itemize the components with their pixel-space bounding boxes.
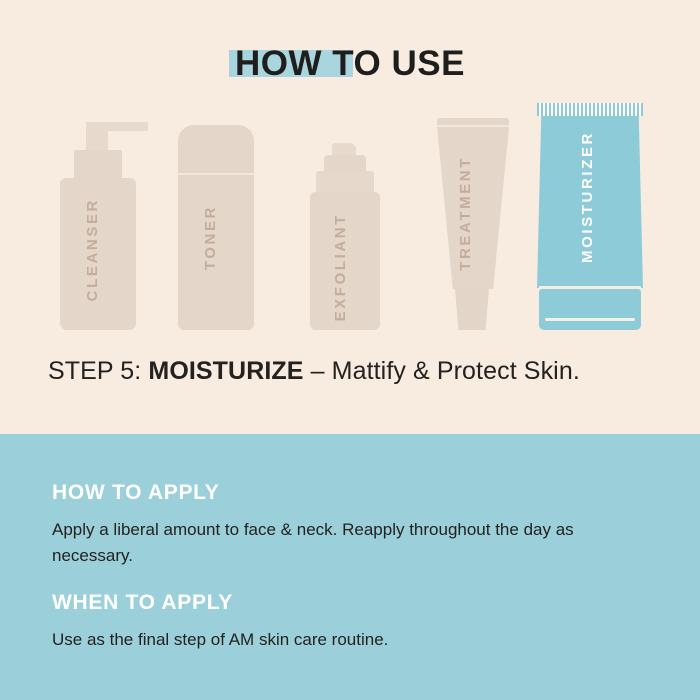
when-to-apply-heading: WHEN TO APPLY — [52, 590, 656, 616]
tube-crimp-icon — [437, 118, 509, 125]
tube-nozzle-icon — [455, 289, 489, 330]
step-caption-prefix: STEP 5: — [48, 357, 148, 385]
top-section: HOW TO USE CLEANSER TONER — [0, 0, 700, 434]
product-moisturizer[interactable]: MOISTURIZER — [537, 103, 657, 330]
step-caption-suffix: – Mattify & Protect Skin. — [304, 357, 580, 385]
tube-crimp-icon — [537, 103, 643, 116]
product-label-moisturizer: MOISTURIZER — [579, 131, 596, 263]
when-to-apply-block: WHEN TO APPLY Use as the final step of A… — [52, 590, 656, 653]
how-to-apply-heading: HOW TO APPLY — [52, 480, 656, 506]
step-caption-emphasis: MOISTURIZE — [148, 357, 303, 385]
how-to-apply-body: Apply a liberal amount to face & neck. R… — [52, 517, 652, 569]
page-title: HOW TO USE — [235, 42, 465, 86]
product-cleanser[interactable]: CLEANSER — [46, 112, 166, 330]
when-to-apply-body: Use as the final step of AM skin care ro… — [52, 627, 652, 653]
pump-collar-icon — [316, 171, 374, 193]
tube-crimp-line — [437, 125, 509, 127]
product-toner[interactable]: TONER — [178, 125, 288, 330]
product-lineup: CLEANSER TONER EXFOLIANT — [0, 100, 700, 330]
bottom-panel: HOW TO APPLY Apply a liberal amount to f… — [0, 434, 700, 700]
page-title-highlighted-word: HOW — [235, 44, 322, 83]
infographic-root: HOW TO USE CLEANSER TONER — [0, 0, 700, 700]
tube-base — [539, 321, 641, 330]
pump-stem-icon — [86, 122, 108, 152]
page-title-wrap: HOW TO USE — [0, 42, 700, 86]
bottle-cap-line — [178, 173, 254, 175]
product-exfoliant[interactable]: EXFOLIANT — [310, 135, 420, 330]
product-treatment[interactable]: TREATMENT — [425, 118, 535, 330]
page-title-rest: TO USE — [322, 44, 465, 83]
step-caption: STEP 5: MOISTURIZE – Mattify & Protect S… — [48, 355, 580, 387]
how-to-apply-block: HOW TO APPLY Apply a liberal amount to f… — [52, 480, 656, 569]
product-label-treatment: TREATMENT — [457, 156, 474, 271]
product-label-exfoliant: EXFOLIANT — [332, 213, 349, 321]
pump-collar-icon — [74, 150, 122, 180]
product-label-toner: TONER — [202, 205, 219, 270]
product-label-cleanser: CLEANSER — [84, 198, 101, 301]
